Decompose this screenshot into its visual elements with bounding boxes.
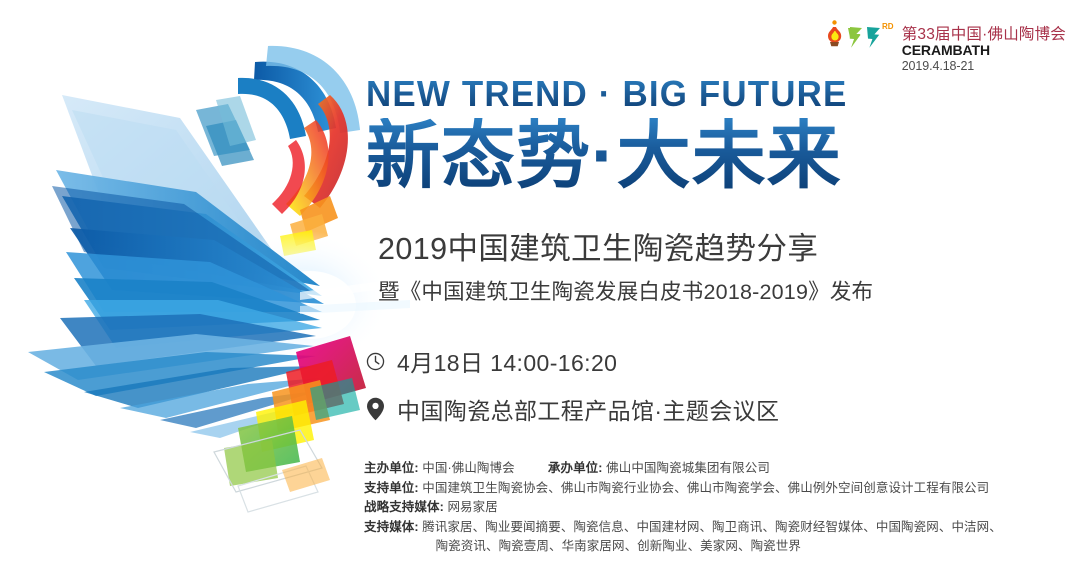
clock-icon xyxy=(364,351,386,372)
subtitle-main: 2019中国建筑卫生陶瓷趋势分享 xyxy=(378,232,1068,268)
event-logo-title-en: CERAMBATH xyxy=(902,43,1066,59)
event-venue-row: 中国陶瓷总部工程产品馆·主题会议区 xyxy=(364,392,779,426)
subtitle-secondary: 暨《中国建筑卫生陶瓷发展白皮书2018-2019》发布 xyxy=(378,275,1068,306)
headline-block: NEW TREND · BIG FUTURE 新态势·大未来 xyxy=(366,76,1066,193)
host-value: 佛山中国陶瓷城集团有限公司 xyxy=(606,461,770,475)
strategic-media-line: 战略支持媒体: 网易家居 xyxy=(364,498,1064,518)
media-label: 支持媒体: xyxy=(364,520,419,534)
ceramic-vase-flame-33-logo: RD xyxy=(822,16,894,60)
event-logo-dates: 2019.4.18-21 xyxy=(902,59,1066,73)
abstract-ribbon-artwork xyxy=(0,0,420,585)
media-value-first: 腾讯家居、陶业要闻摘要、陶瓷信息、中国建材网、陶卫商讯、陶瓷财经智媒体、中国陶瓷… xyxy=(422,520,1002,534)
footer-credits: 主办单位: 中国·佛山陶博会 承办单位: 佛山中国陶瓷城集团有限公司 支持单位:… xyxy=(364,459,1064,557)
host-label: 承办单位: xyxy=(548,461,603,475)
organizer-value: 中国·佛山陶博会 xyxy=(422,461,514,475)
event-logo-title-cn: 第33届中国·佛山陶博会 xyxy=(902,26,1066,43)
organizer-line: 主办单位: 中国·佛山陶博会 承办单位: 佛山中国陶瓷城集团有限公司 xyxy=(364,459,1064,479)
logo-mark-icon: RD xyxy=(822,16,894,60)
strategic-media-value: 网易家居 xyxy=(447,500,497,514)
headline-english: NEW TREND · BIG FUTURE xyxy=(366,76,1045,112)
event-logo-text: 第33届中国·佛山陶博会 CERAMBATH 2019.4.18-21 xyxy=(902,14,1066,73)
support-label: 支持单位: xyxy=(364,481,419,495)
subtitle-block: 2019中国建筑卫生陶瓷趋势分享 暨《中国建筑卫生陶瓷发展白皮书2018-201… xyxy=(378,232,1068,306)
media-value-second: 陶瓷资讯、陶瓷壹周、华南家居网、创新陶业、美家网、陶瓷世界 xyxy=(436,539,801,553)
poster-canvas: RD 第33届中国·佛山陶博会 CERAMBATH 2019.4.18-21 N… xyxy=(0,0,1080,585)
strategic-media-label: 战略支持媒体: xyxy=(364,500,444,514)
event-info-block: 4月18日 14:00-16:20 中国陶瓷总部工程产品馆·主题会议区 xyxy=(364,344,779,440)
support-line: 支持单位: 中国建筑卫生陶瓷协会、佛山市陶瓷行业协会、佛山市陶瓷学会、佛山例外空… xyxy=(364,479,1064,499)
svg-text:RD: RD xyxy=(882,22,894,31)
support-value: 中国建筑卫生陶瓷协会、佛山市陶瓷行业协会、佛山市陶瓷学会、佛山例外空间创意设计工… xyxy=(422,481,989,495)
location-pin-icon xyxy=(364,397,386,421)
media-line-2: 陶瓷资讯、陶瓷壹周、华南家居网、创新陶业、美家网、陶瓷世界 xyxy=(364,537,1064,557)
organizer-label: 主办单位: xyxy=(364,461,419,475)
event-venue-text: 中国陶瓷总部工程产品馆·主题会议区 xyxy=(397,392,779,426)
event-logo: RD 第33届中国·佛山陶博会 CERAMBATH 2019.4.18-21 xyxy=(822,14,1066,73)
media-line-1: 支持媒体: 腾讯家居、陶业要闻摘要、陶瓷信息、中国建材网、陶卫商讯、陶瓷财经智媒… xyxy=(364,518,1064,538)
event-time-text: 4月18日 14:00-16:20 xyxy=(397,344,617,378)
event-time-row: 4月18日 14:00-16:20 xyxy=(364,344,779,378)
headline-chinese: 新态势·大未来 xyxy=(366,118,1066,193)
